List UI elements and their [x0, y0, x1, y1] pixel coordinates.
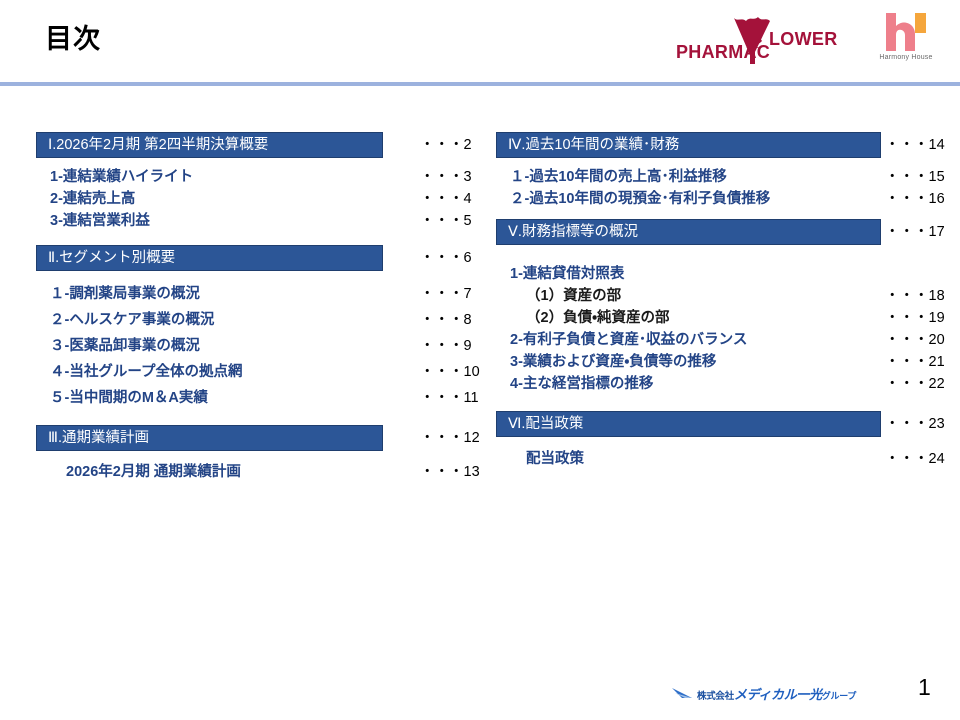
pharmacy-flower-text-right: LOWER: [769, 29, 838, 49]
toc-section-page-number: ・・・6: [420, 245, 472, 271]
toc-item-row[interactable]: ５-当中間期のM＆A実績 ・・・11: [36, 385, 486, 411]
toc-item-row[interactable]: 配当政策 ・・・24: [496, 446, 948, 472]
toc-section-block: Ⅵ.配当政策 ・・・23 配当政策 ・・・24: [496, 411, 948, 472]
toc-section-bar[interactable]: Ⅱ.セグメント別概要: [36, 245, 383, 271]
toc-item-label: ５-当中間期のM＆A実績: [50, 385, 208, 411]
toc-section-label: Ⅰ.2026年2月期 第2四半期決算概要: [37, 138, 268, 153]
toc-item-label: 4-主な経営指標の推移: [510, 373, 653, 395]
toc-item-row[interactable]: ３-医薬品卸事業の概況 ・・・9: [36, 333, 486, 359]
toc-section-block: Ⅰ.2026年2月期 第2四半期決算概要 ・・・2 1-連結業績ハイライト ・・…: [36, 132, 486, 232]
toc-item-label: （1）資産の部: [526, 285, 621, 307]
toc-item-page-number: ・・・13: [420, 459, 480, 485]
toc-item-label: ３-医薬品卸事業の概況: [50, 333, 200, 359]
toc-section-bar[interactable]: Ⅰ.2026年2月期 第2四半期決算概要: [36, 132, 383, 158]
toc-item-label: 1-連結業績ハイライト: [50, 166, 193, 188]
toc-left-column: Ⅰ.2026年2月期 第2四半期決算概要 ・・・2 1-連結業績ハイライト ・・…: [36, 132, 486, 485]
toc-item-page-number: ・・・7: [420, 281, 472, 307]
company-suffix: グループ: [822, 691, 856, 701]
toc-section-block: Ⅲ.通期業績計画 ・・・12 2026年2月期 通期業績計画 ・・・13: [36, 425, 486, 485]
toc-section-header-row[interactable]: Ⅳ.過去10年間の業績･財務 ・・・14: [496, 132, 948, 158]
toc-section-label: Ⅴ.財務指標等の概況: [497, 225, 638, 240]
toc-section-label: Ⅵ.配当政策: [497, 417, 583, 432]
toc-section-bar[interactable]: Ⅵ.配当政策: [496, 411, 881, 437]
toc-item-page-number: ・・・11: [420, 385, 479, 411]
toc-item-label: ４-当社グループ全体の拠点網: [50, 359, 242, 385]
pharmacy-flower-logo: PHARMAC LOWER: [676, 14, 848, 66]
toc-item-page-number: ・・・10: [420, 359, 480, 385]
toc-item-label: ２-ヘルスケア事業の概況: [50, 307, 214, 333]
toc-section-page-number: ・・・14: [885, 132, 945, 158]
toc-section-header-row[interactable]: Ⅰ.2026年2月期 第2四半期決算概要 ・・・2: [36, 132, 486, 158]
toc-item-row[interactable]: 2026年2月期 通期業績計画 ・・・13: [36, 459, 486, 485]
company-footer-logo: 株式会社メディカル一光グループ: [672, 683, 856, 703]
toc-section-page-number: ・・・2: [420, 132, 472, 158]
toc-item-label: 2026年2月期 通期業績計画: [66, 459, 241, 485]
toc-section-block: Ⅳ.過去10年間の業績･財務 ・・・14 １-過去10年間の売上高･利益推移 ・…: [496, 132, 948, 210]
toc-item-page-number: ・・・18: [885, 285, 945, 307]
swoosh-triangle-icon: [672, 686, 694, 700]
toc-item-label: 3-業績および資産・負債等の推移: [510, 351, 716, 373]
toc-section-bar[interactable]: Ⅴ.財務指標等の概況: [496, 219, 881, 245]
toc-section-bar[interactable]: Ⅲ.通期業績計画: [36, 425, 383, 451]
company-prefix: 株式会社: [697, 691, 734, 702]
toc-section-label: Ⅱ.セグメント別概要: [37, 251, 175, 266]
toc-item-row[interactable]: １-調剤薬局事業の概況 ・・・7: [36, 281, 486, 307]
toc-item-label: 2-連結売上高: [50, 188, 135, 210]
toc-item-page-number: ・・・16: [885, 188, 945, 210]
toc-item-row[interactable]: （1）資産の部 ・・・18: [496, 285, 948, 307]
toc-item-page-number: ・・・3: [420, 166, 472, 188]
company-main-name: メディカル一光: [734, 687, 822, 702]
toc-item-row[interactable]: （2）負債・純資産の部 ・・・19: [496, 307, 948, 329]
toc-item-row[interactable]: 3-業績および資産・負債等の推移 ・・・21: [496, 351, 948, 373]
toc-item-label: 2-有利子負債と資産･収益のバランス: [510, 329, 747, 351]
toc-item-label: １-調剤薬局事業の概況: [50, 281, 200, 307]
toc-item-label: 3-連結営業利益: [50, 210, 150, 232]
toc-item-row[interactable]: 2-有利子負債と資産･収益のバランス ・・・20: [496, 329, 948, 351]
harmony-house-logo: Harmony House: [868, 10, 944, 68]
toc-item-page-number: ・・・21: [885, 351, 945, 373]
slide-canvas: 目次 PHARMAC LOWER Harmony House Ⅰ.2026年2月…: [0, 0, 960, 720]
toc-section-page-number: ・・・17: [885, 219, 945, 245]
toc-section-bar[interactable]: Ⅳ.過去10年間の業績･財務: [496, 132, 881, 158]
toc-item-page-number: ・・・22: [885, 373, 945, 395]
toc-item-page-number: ・・・8: [420, 307, 472, 333]
company-name-text: 株式会社メディカル一光グループ: [697, 684, 856, 703]
toc-item-row[interactable]: ２-ヘルスケア事業の概況 ・・・8: [36, 307, 486, 333]
toc-section-label: Ⅲ.通期業績計画: [37, 431, 149, 446]
toc-item-label: （2）負債・純資産の部: [526, 307, 670, 329]
harmony-house-label: Harmony House: [868, 54, 944, 61]
pharmacy-flower-text-left: PHARMAC: [676, 42, 770, 62]
toc-item-page-number: ・・・19: [885, 307, 945, 329]
pharmacy-flower-logo-icon: PHARMAC LOWER: [676, 14, 848, 66]
toc-item-row[interactable]: 3-連結営業利益 ・・・5: [36, 210, 486, 232]
toc-section-header-row[interactable]: Ⅵ.配当政策 ・・・23: [496, 411, 948, 437]
toc-item-row[interactable]: 1-連結業績ハイライト ・・・3: [36, 166, 486, 188]
toc-item-page-number: ・・・15: [885, 166, 945, 188]
toc-item-label: 配当政策: [526, 446, 584, 472]
harmony-house-logo-icon: [868, 10, 944, 54]
toc-item-page-number: ・・・20: [885, 329, 945, 351]
toc-section-header-row[interactable]: Ⅲ.通期業績計画 ・・・12: [36, 425, 486, 451]
toc-section-header-row[interactable]: Ⅱ.セグメント別概要 ・・・6: [36, 245, 486, 271]
page-title: 目次: [45, 26, 101, 53]
toc-item-page-number: ・・・9: [420, 333, 472, 359]
toc-item-row[interactable]: １-過去10年間の売上高･利益推移 ・・・15: [496, 166, 948, 188]
toc-item-row[interactable]: ４-当社グループ全体の拠点網 ・・・10: [36, 359, 486, 385]
toc-item-row[interactable]: 4-主な経営指標の推移 ・・・22: [496, 373, 948, 395]
toc-item-label: 1-連結貸借対照表: [510, 263, 624, 285]
toc-item-page-number: ・・・24: [885, 446, 945, 472]
toc-section-block: Ⅴ.財務指標等の概況 ・・・17 1-連結貸借対照表 （1）資産の部 ・・・18…: [496, 219, 948, 395]
toc-item-page-number: ・・・4: [420, 188, 472, 210]
toc-item-row[interactable]: 2-連結売上高 ・・・4: [36, 188, 486, 210]
toc-section-block: Ⅱ.セグメント別概要 ・・・6 １-調剤薬局事業の概況 ・・・7 ２-ヘルスケア…: [36, 245, 486, 411]
toc-item-row[interactable]: 1-連結貸借対照表: [496, 263, 948, 285]
toc-item-label: ２-過去10年間の現預金･有利子負債推移: [510, 188, 770, 210]
toc-section-page-number: ・・・23: [885, 411, 945, 437]
slide-number: 1: [918, 676, 931, 699]
toc-item-label: １-過去10年間の売上高･利益推移: [510, 166, 727, 188]
toc-section-page-number: ・・・12: [420, 425, 480, 451]
toc-item-page-number: ・・・5: [420, 210, 472, 232]
toc-right-column: Ⅳ.過去10年間の業績･財務 ・・・14 １-過去10年間の売上高･利益推移 ・…: [496, 132, 948, 472]
toc-section-header-row[interactable]: Ⅴ.財務指標等の概況 ・・・17: [496, 219, 948, 245]
title-divider-rule: [0, 82, 960, 86]
toc-section-label: Ⅳ.過去10年間の業績･財務: [497, 138, 679, 153]
toc-item-row[interactable]: ２-過去10年間の現預金･有利子負債推移 ・・・16: [496, 188, 948, 210]
